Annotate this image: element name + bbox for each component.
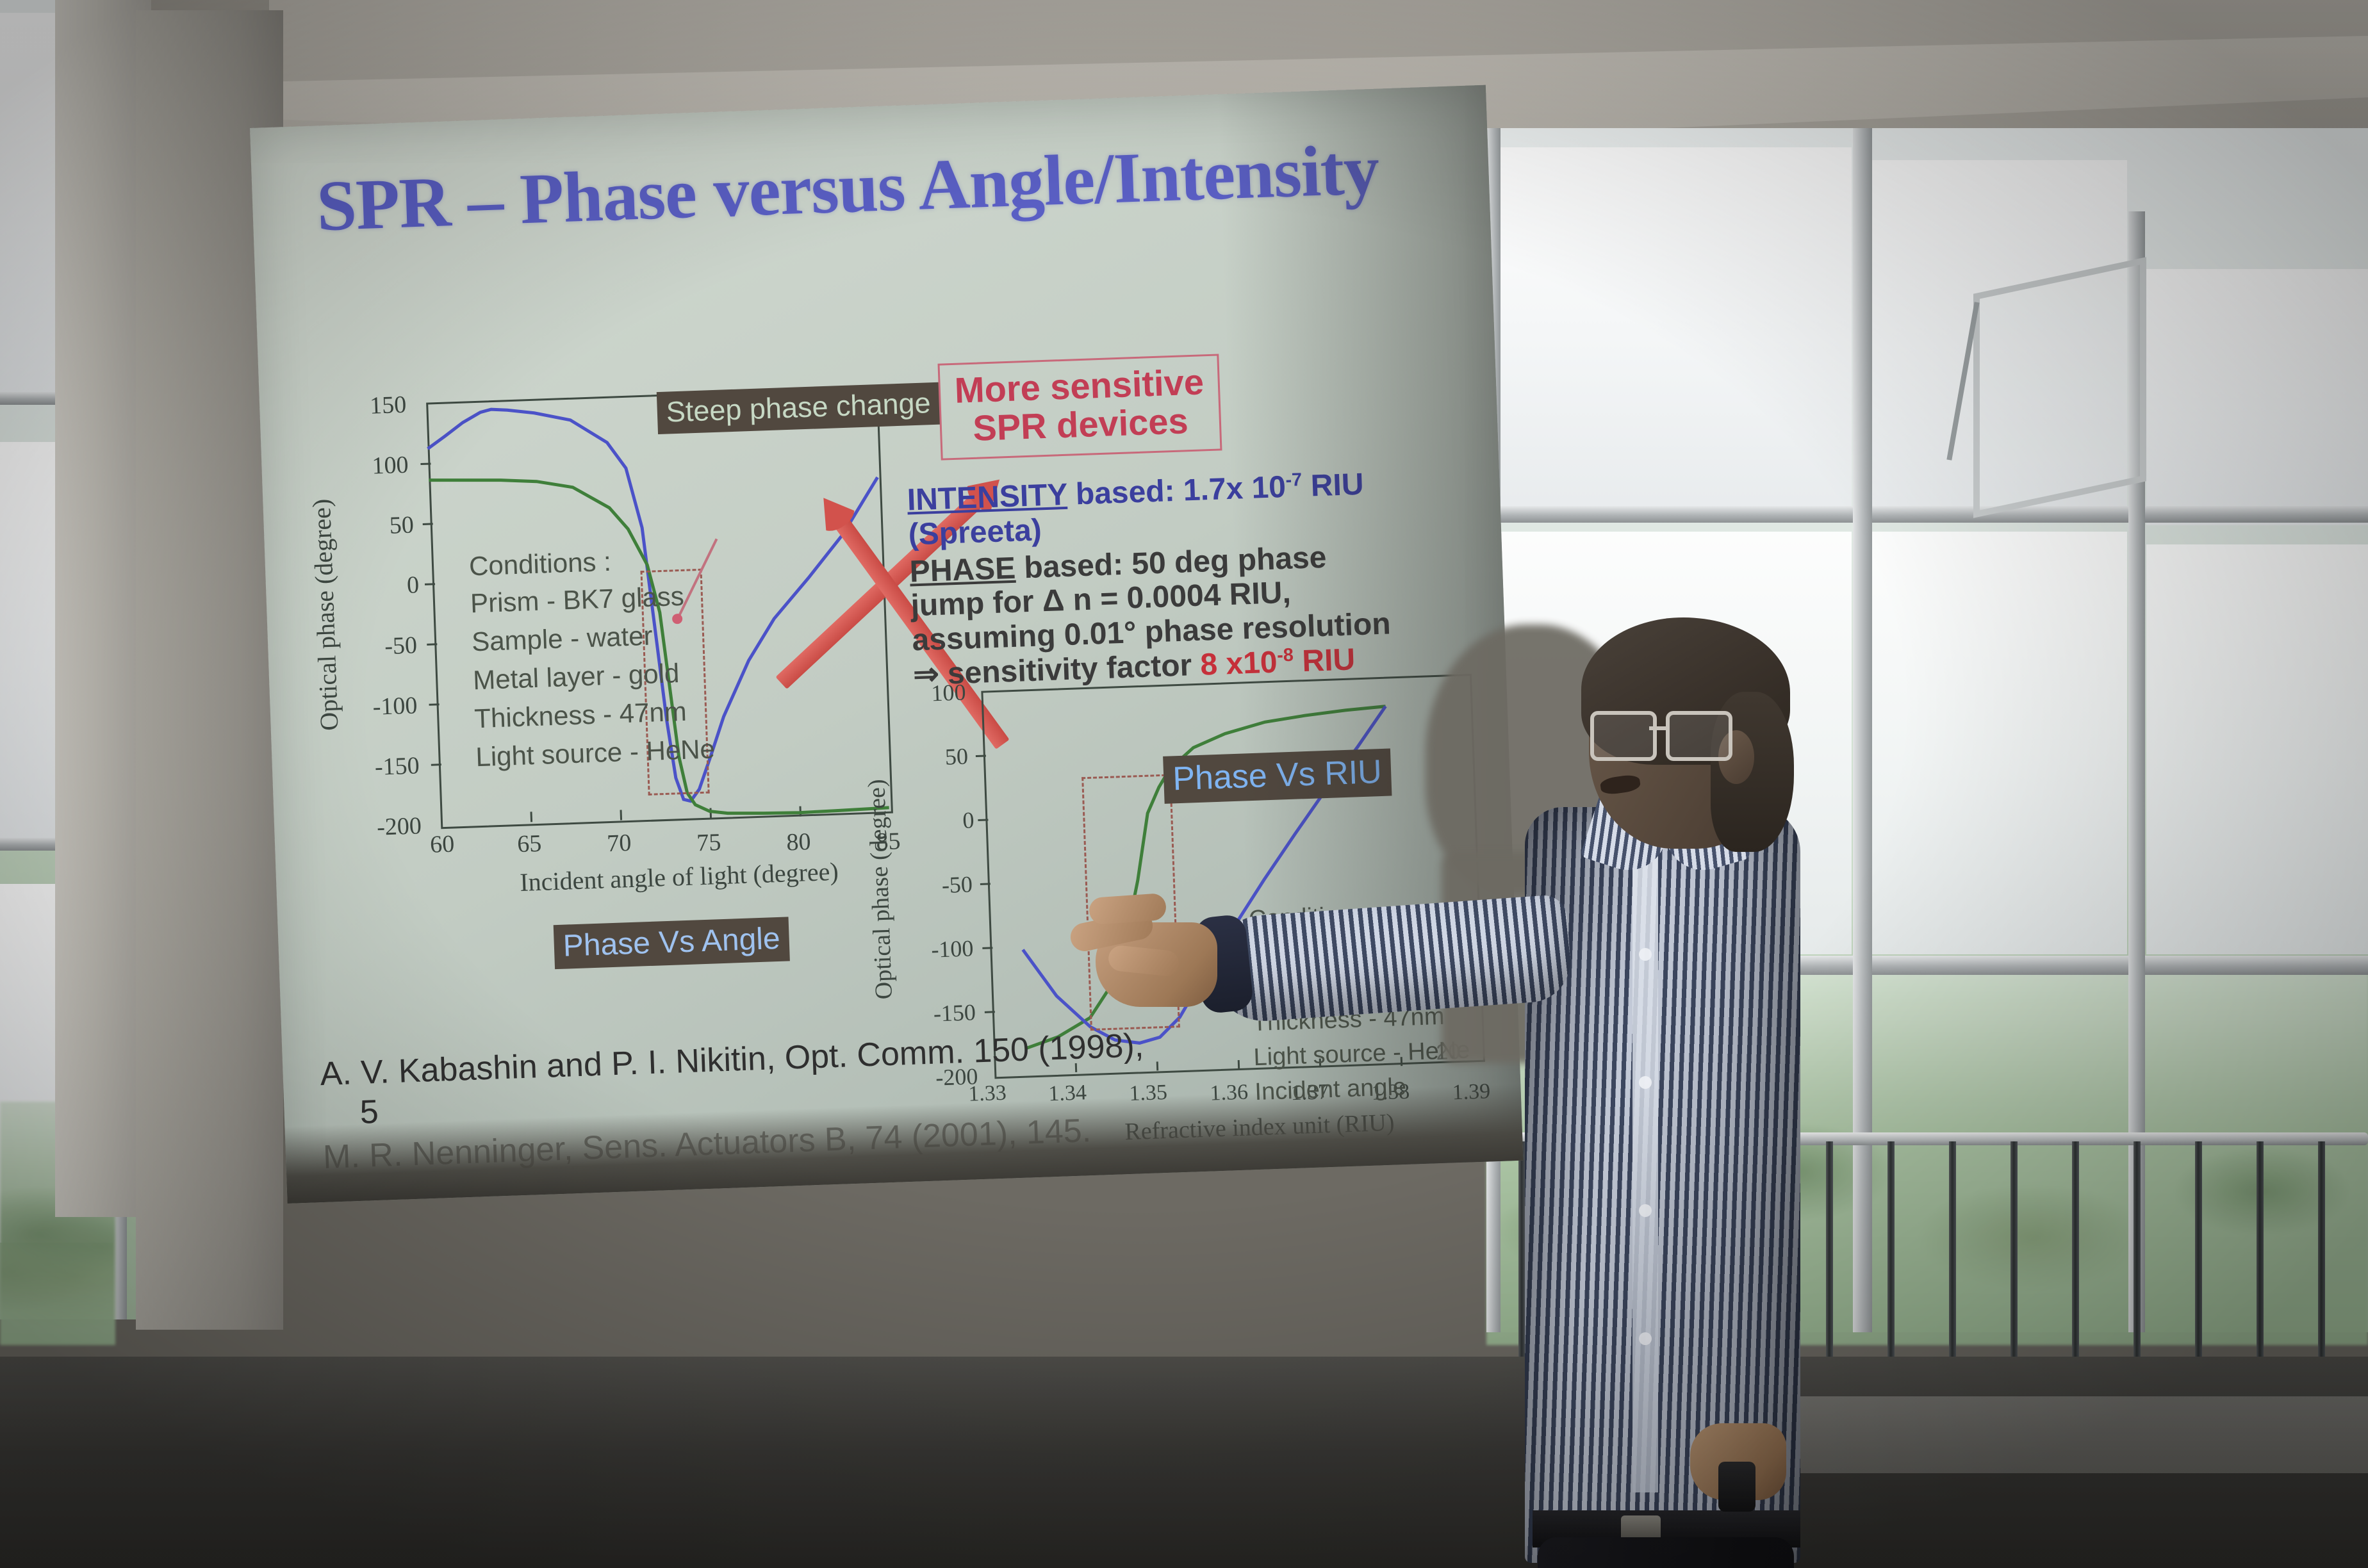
presenter-trousers xyxy=(1538,1537,1794,1568)
railing-bar xyxy=(1949,1141,1956,1364)
chart-phase-vs-angle: 150 100 50 0 -50 -100 -150 -200 60 65 70… xyxy=(297,362,916,869)
right-window-pane-b2 xyxy=(1871,532,2127,954)
presentation-clicker xyxy=(1718,1462,1755,1512)
glasses-lens-right xyxy=(1666,711,1732,761)
phase-vs-angle-label: Phase Vs Angle xyxy=(554,917,790,969)
left-chart-curves xyxy=(297,362,916,869)
railing-bar xyxy=(2010,1141,2018,1364)
presenter xyxy=(1429,615,1877,1568)
right-window-pane-a3 xyxy=(2146,269,2368,525)
shirt-button xyxy=(1639,1204,1652,1217)
glasses-lens-left xyxy=(1590,711,1657,761)
glasses-bridge xyxy=(1649,726,1666,730)
right-window-pane-a1 xyxy=(1493,147,1852,506)
open-window-sash xyxy=(1973,257,2146,518)
projection-screen: SPR – Phase versus Angle/Intensity 150 1… xyxy=(250,85,1523,1204)
railing-bar xyxy=(2134,1141,2141,1364)
railing-bar xyxy=(2072,1141,2079,1364)
railing-bar xyxy=(2257,1141,2264,1364)
glasses-icon xyxy=(1590,711,1725,756)
presenter-pointing-hand xyxy=(1070,884,1224,1012)
phase-keyword: PHASE xyxy=(909,551,1016,589)
condition-line: Conditions : xyxy=(468,546,611,582)
railing-bar xyxy=(2195,1141,2202,1364)
photo-scene: SPR – Phase versus Angle/Intensity 150 1… xyxy=(0,0,2368,1568)
more-sensitive-callout: More sensitive SPR devices xyxy=(937,354,1222,460)
railing-bar xyxy=(1887,1141,1895,1364)
hand-finger xyxy=(1089,893,1167,925)
x-axis-title-left: Incident angle of light (degree) xyxy=(520,856,839,897)
railing-bar xyxy=(2318,1141,2325,1364)
shirt-button xyxy=(1639,1332,1652,1345)
callout-line-2: SPR devices xyxy=(955,402,1206,449)
right-window-mullion-h1 xyxy=(1486,506,2368,523)
shirt-button xyxy=(1639,1076,1652,1089)
condition-line: Sample - water xyxy=(471,621,653,658)
intensity-keyword: INTENSITY xyxy=(907,478,1068,518)
shirt-placket xyxy=(1632,826,1658,1492)
shirt-button xyxy=(1639,948,1652,961)
slide-surface: SPR – Phase versus Angle/Intensity 150 1… xyxy=(250,85,1523,1204)
right-window-pane-b3 xyxy=(2146,544,2368,954)
